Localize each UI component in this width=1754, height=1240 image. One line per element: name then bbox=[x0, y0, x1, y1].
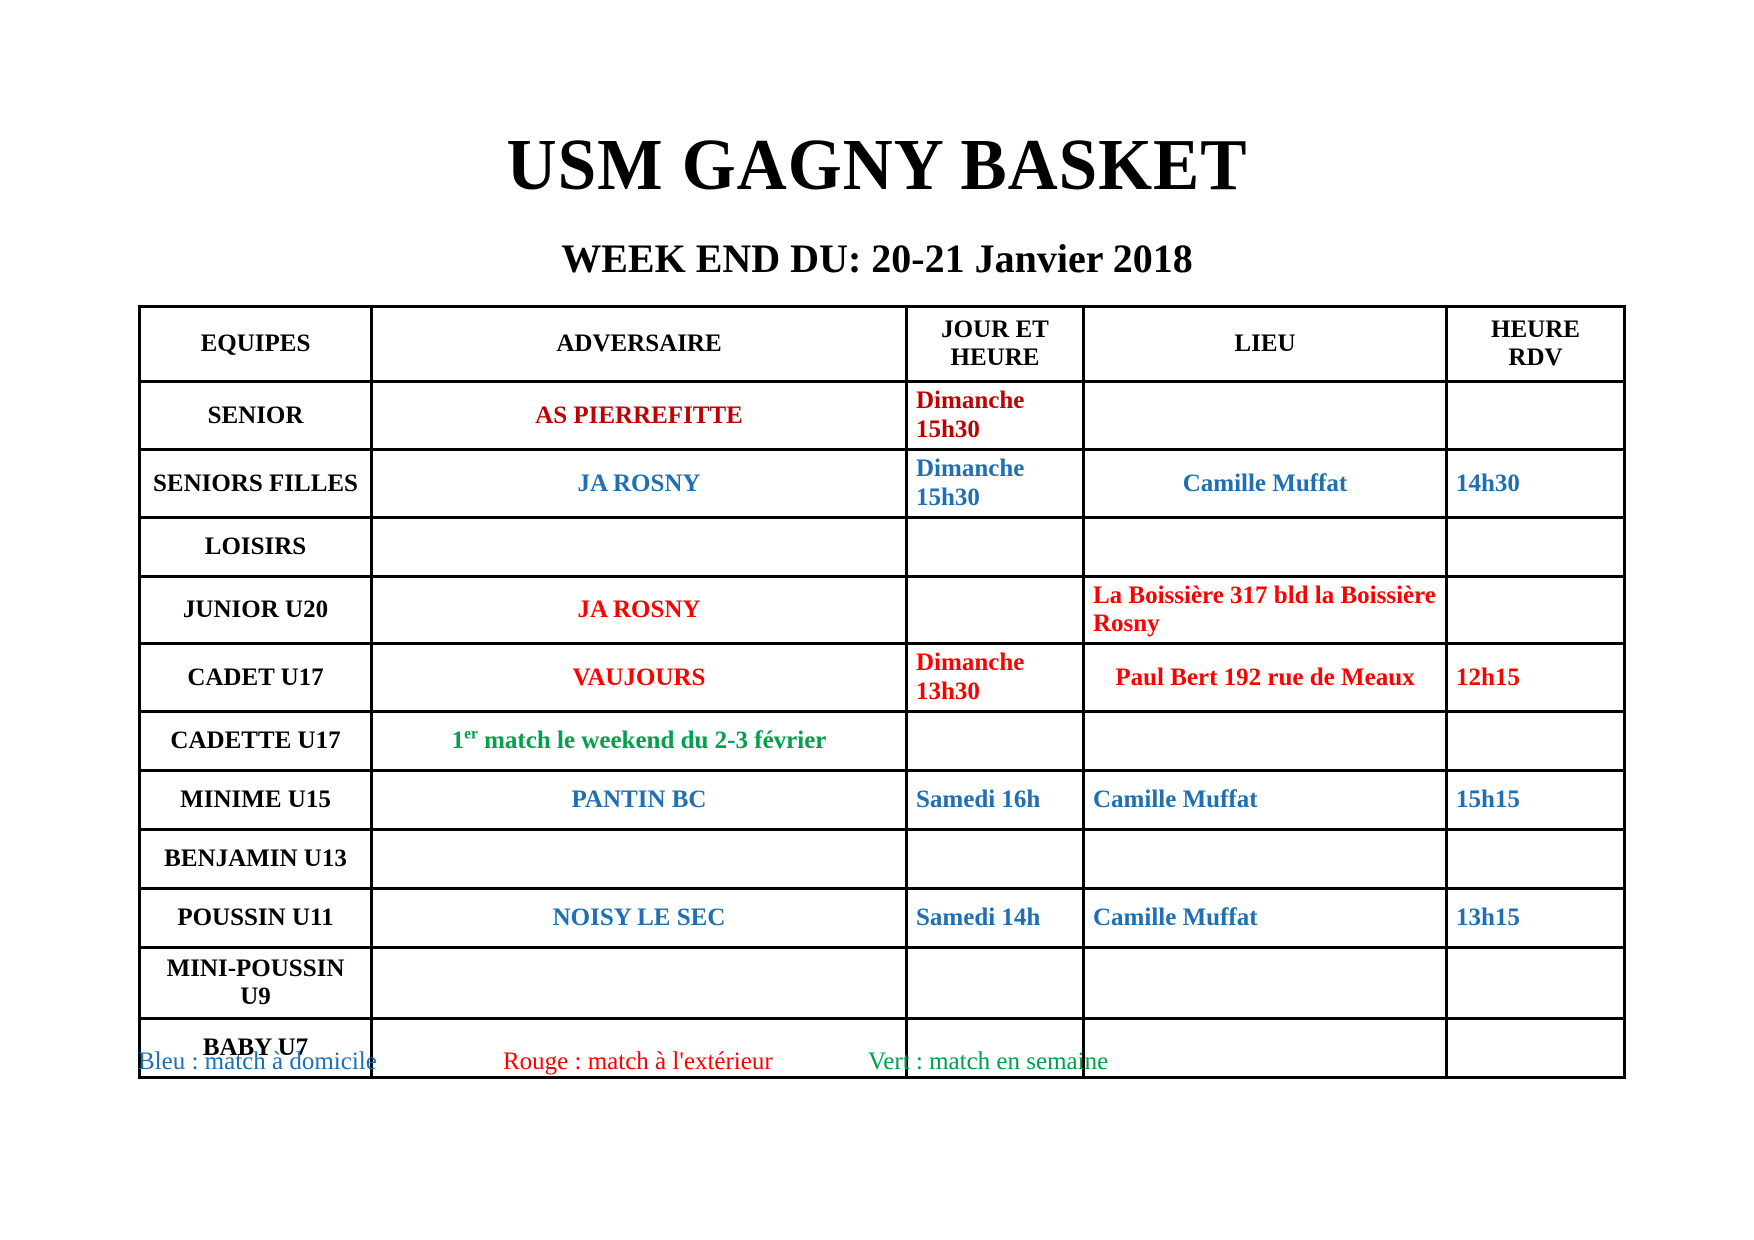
column-header-equipes: EQUIPES bbox=[140, 307, 372, 382]
table-row: SENIOR AS PIERREFITTE Dimanche 15h30 bbox=[140, 382, 1625, 450]
row-opponent bbox=[372, 948, 907, 1019]
row-opponent bbox=[372, 518, 907, 577]
note-text: match le weekend du 2-3 février bbox=[478, 727, 827, 754]
row-day-time bbox=[907, 948, 1084, 1019]
row-day-time: Dimanche 15h30 bbox=[907, 382, 1084, 450]
column-header-heure-rdv: HEURE RDV bbox=[1447, 307, 1625, 382]
row-meeting-time bbox=[1447, 577, 1625, 644]
row-team-name: BENJAMIN U13 bbox=[140, 830, 372, 889]
row-day-time bbox=[907, 518, 1084, 577]
legend-item-away: Rouge : match à l'extérieur bbox=[503, 1048, 773, 1076]
row-meeting-time: 13h15 bbox=[1447, 889, 1625, 948]
row-venue: Camille Muffat bbox=[1084, 450, 1447, 518]
row-team-name: CADETTE U17 bbox=[140, 712, 372, 771]
row-opponent: VAUJOURS bbox=[372, 644, 907, 712]
row-meeting-time bbox=[1447, 830, 1625, 889]
row-venue bbox=[1084, 518, 1447, 577]
row-opponent: JA ROSNY bbox=[372, 450, 907, 518]
table-row: POUSSIN U11 NOISY LE SEC Samedi 14h Cami… bbox=[140, 889, 1625, 948]
legend: Bleu : match à domicile Rouge : match à … bbox=[138, 1048, 1623, 1082]
row-team-name: CADET U17 bbox=[140, 644, 372, 712]
column-header-jour-line1: JOUR ET bbox=[916, 316, 1074, 345]
table-row: MINIME U15 PANTIN BC Samedi 16h Camille … bbox=[140, 771, 1625, 830]
row-meeting-time bbox=[1447, 382, 1625, 450]
row-time: 15h30 bbox=[916, 484, 1074, 513]
row-day-time bbox=[907, 712, 1084, 771]
table-header-row: EQUIPES ADVERSAIRE JOUR ET HEURE LIEU HE… bbox=[140, 307, 1625, 382]
row-venue: Camille Muffat bbox=[1084, 771, 1447, 830]
row-team-name: JUNIOR U20 bbox=[140, 577, 372, 644]
row-team-name: POUSSIN U11 bbox=[140, 889, 372, 948]
table-row: JUNIOR U20 JA ROSNY La Boissière 317 bld… bbox=[140, 577, 1625, 644]
row-meeting-time: 15h15 bbox=[1447, 771, 1625, 830]
column-header-lieu: LIEU bbox=[1084, 307, 1447, 382]
row-opponent: PANTIN BC bbox=[372, 771, 907, 830]
row-meeting-time bbox=[1447, 948, 1625, 1019]
table-row: LOISIRS bbox=[140, 518, 1625, 577]
row-team-name: SENIORS FILLES bbox=[140, 450, 372, 518]
row-opponent: AS PIERREFITTE bbox=[372, 382, 907, 450]
row-time: 13h30 bbox=[916, 678, 1074, 707]
row-team-name-line1: MINI-POUSSIN bbox=[149, 955, 362, 984]
row-day: Dimanche bbox=[916, 649, 1074, 678]
row-day-time: Dimanche 13h30 bbox=[907, 644, 1084, 712]
row-meeting-time: 12h15 bbox=[1447, 644, 1625, 712]
schedule-table: EQUIPES ADVERSAIRE JOUR ET HEURE LIEU HE… bbox=[138, 305, 1626, 1079]
table-row: CADETTE U17 1er match le weekend du 2-3 … bbox=[140, 712, 1625, 771]
row-team-name-line2: U9 bbox=[149, 983, 362, 1012]
row-venue bbox=[1084, 712, 1447, 771]
row-venue: Camille Muffat bbox=[1084, 889, 1447, 948]
schedule-page: USM GAGNY BASKET WEEK END DU: 20-21 Janv… bbox=[0, 0, 1754, 1240]
row-venue: La Boissière 317 bld la Boissière Rosny bbox=[1084, 577, 1447, 644]
row-meeting-time bbox=[1447, 712, 1625, 771]
row-venue bbox=[1084, 830, 1447, 889]
table-row: CADET U17 VAUJOURS Dimanche 13h30 Paul B… bbox=[140, 644, 1625, 712]
row-day-time bbox=[907, 577, 1084, 644]
column-header-jour-et-heure: JOUR ET HEURE bbox=[907, 307, 1084, 382]
note-prefix: 1 bbox=[452, 727, 465, 754]
row-time: 15h30 bbox=[916, 416, 1074, 445]
legend-item-weekday: Vert : match en semaine bbox=[868, 1048, 1108, 1076]
row-venue: Paul Bert 192 rue de Meaux bbox=[1084, 644, 1447, 712]
row-venue bbox=[1084, 948, 1447, 1019]
row-team-name: MINIME U15 bbox=[140, 771, 372, 830]
row-opponent bbox=[372, 830, 907, 889]
page-subtitle: WEEK END DU: 20-21 Janvier 2018 bbox=[0, 201, 1754, 279]
row-day: Dimanche bbox=[916, 387, 1074, 416]
table-row: BENJAMIN U13 bbox=[140, 830, 1625, 889]
row-meeting-time bbox=[1447, 518, 1625, 577]
column-header-adversaire: ADVERSAIRE bbox=[372, 307, 907, 382]
row-opponent: NOISY LE SEC bbox=[372, 889, 907, 948]
legend-item-home: Bleu : match à domicile bbox=[138, 1048, 377, 1076]
row-day-time: Samedi 14h bbox=[907, 889, 1084, 948]
row-venue bbox=[1084, 382, 1447, 450]
row-day: Dimanche bbox=[916, 455, 1074, 484]
row-meeting-time: 14h30 bbox=[1447, 450, 1625, 518]
note-ordinal-suffix: er bbox=[464, 726, 478, 743]
table-row: MINI-POUSSIN U9 bbox=[140, 948, 1625, 1019]
page-title: USM GAGNY BASKET bbox=[44, 0, 1710, 201]
schedule-table-container: EQUIPES ADVERSAIRE JOUR ET HEURE LIEU HE… bbox=[138, 305, 1623, 1079]
row-team-name: SENIOR bbox=[140, 382, 372, 450]
row-team-name: LOISIRS bbox=[140, 518, 372, 577]
row-day-time: Samedi 16h bbox=[907, 771, 1084, 830]
column-header-rdv-line1: HEURE bbox=[1456, 316, 1615, 345]
table-row: SENIORS FILLES JA ROSNY Dimanche 15h30 C… bbox=[140, 450, 1625, 518]
column-header-jour-line2: HEURE bbox=[916, 344, 1074, 373]
column-header-rdv-line2: RDV bbox=[1456, 344, 1615, 373]
row-day-time: Dimanche 15h30 bbox=[907, 450, 1084, 518]
row-opponent-note: 1er match le weekend du 2-3 février bbox=[372, 712, 907, 771]
row-day-time bbox=[907, 830, 1084, 889]
row-team-name: MINI-POUSSIN U9 bbox=[140, 948, 372, 1019]
row-opponent: JA ROSNY bbox=[372, 577, 907, 644]
